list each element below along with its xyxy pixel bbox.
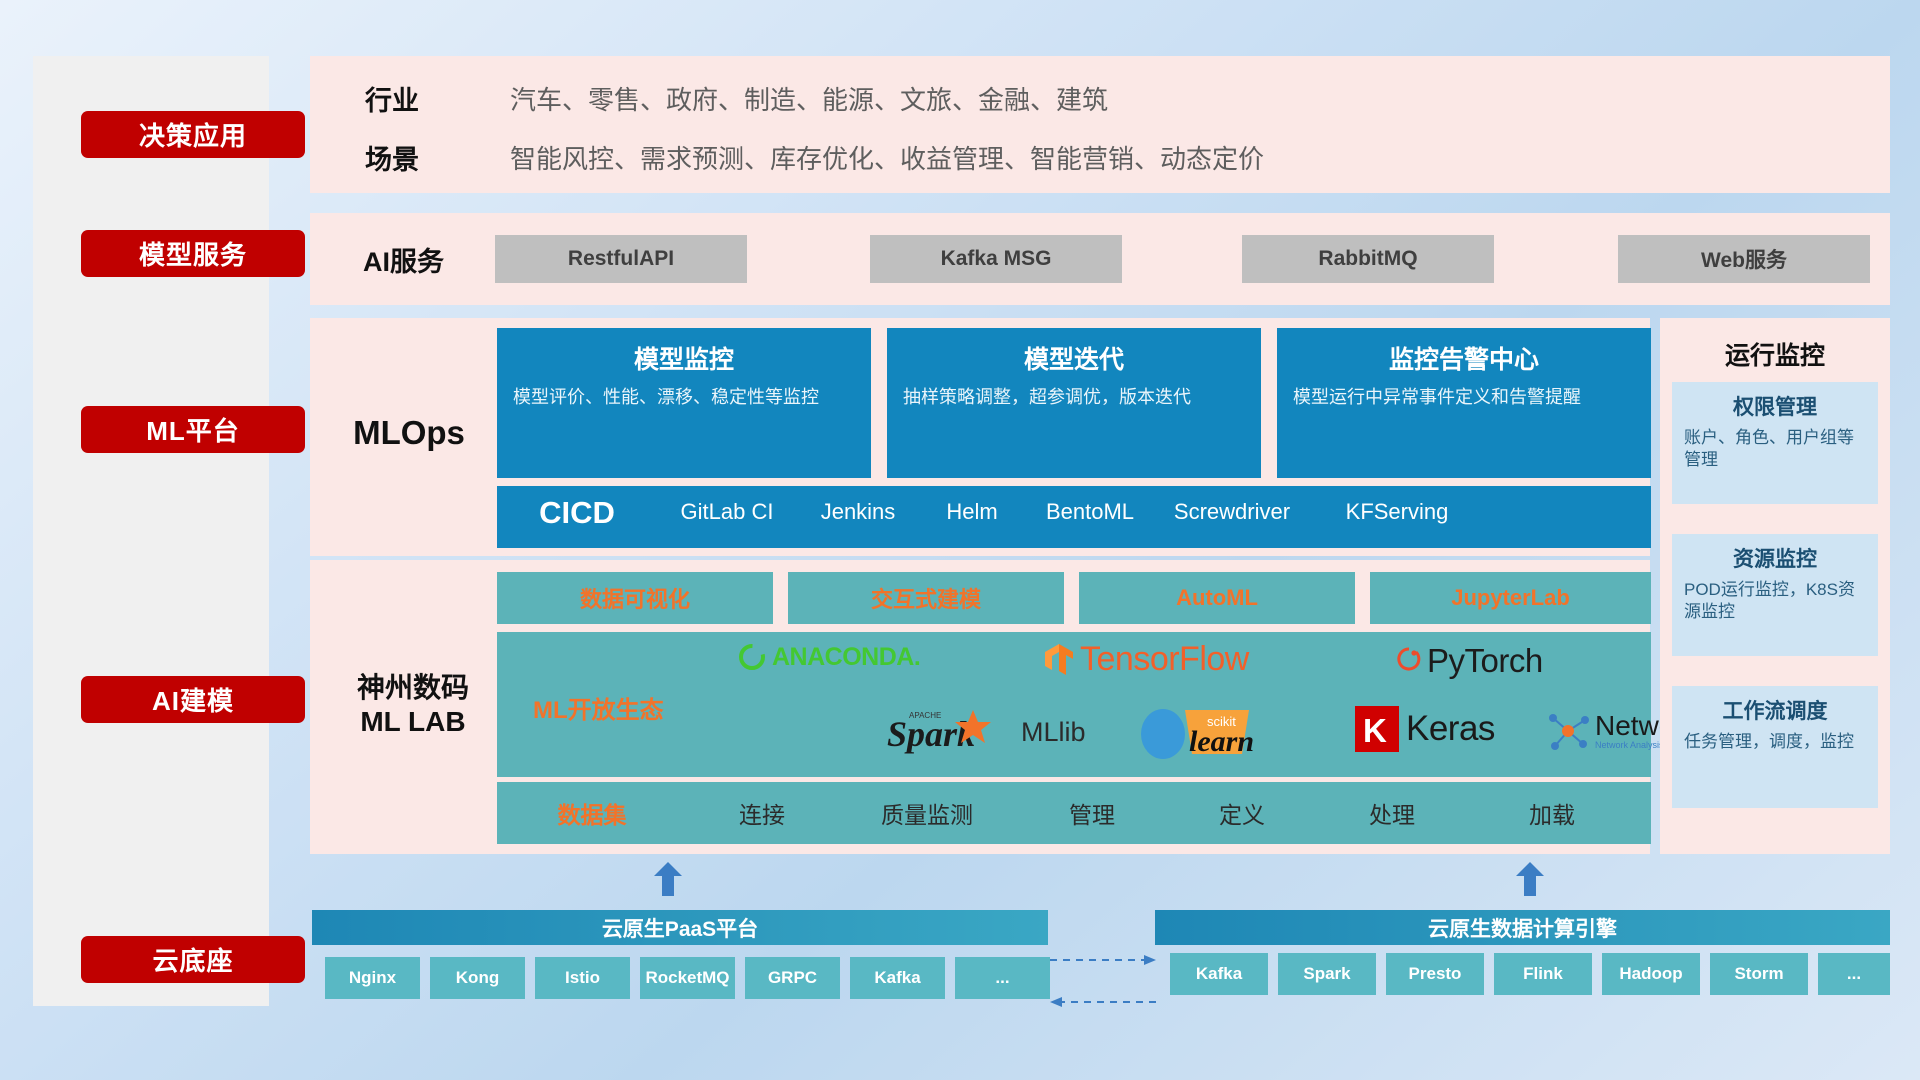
tool-chip-jupyterlab[interactable]: JupyterLab [1370, 572, 1651, 624]
cloud-chip-more-right[interactable]: ... [1818, 953, 1890, 995]
monitoring-card-permission[interactable]: 权限管理 账户、角色、用户组等管理 [1672, 382, 1878, 504]
card-desc: 模型评价、性能、漂移、稳定性等监控 [513, 385, 855, 409]
tool-chip-data-visualization[interactable]: 数据可视化 [497, 572, 773, 624]
sidebar-item-decision-app[interactable]: 决策应用 [81, 111, 305, 158]
service-chip-kafka-msg[interactable]: Kafka MSG [870, 235, 1122, 283]
industry-label: 行业 [365, 79, 419, 118]
card-desc: 模型运行中异常事件定义和告警提醒 [1293, 385, 1635, 409]
dataset-item-connect[interactable]: 连接 [687, 782, 837, 844]
keras-logo: K Keras [1355, 706, 1495, 752]
scikit-learn-logo: scikit learn [1137, 704, 1287, 760]
scenario-value: 智能风控、需求预测、库存优化、收益管理、智能营销、动态定价 [510, 139, 1264, 176]
card-title: 权限管理 [1684, 391, 1866, 421]
ecosystem-label: ML开放生态 [533, 690, 664, 725]
cloud-chip-spark[interactable]: Spark [1278, 953, 1376, 995]
modeling-label-text: 神州数码 ML LAB [357, 671, 469, 739]
cicd-item-jenkins[interactable]: Jenkins [809, 500, 907, 524]
sidebar-item-cloud-base[interactable]: 云底座 [81, 936, 305, 983]
spark-mllib-logo: Spark APACHE MLlib [887, 706, 1086, 758]
dataset-item-process[interactable]: 处理 [1317, 782, 1467, 844]
arrow-up-icon-right [1513, 862, 1547, 896]
card-title: 模型迭代 [903, 340, 1245, 376]
tool-chip-interactive-modeling[interactable]: 交互式建模 [788, 572, 1064, 624]
monitoring-title: 运行监控 [1660, 336, 1890, 372]
cloud-bar-data-engine: 云原生数据计算引擎 [1155, 910, 1890, 945]
service-chip-rabbitmq[interactable]: RabbitMQ [1242, 235, 1494, 283]
dataset-item-load[interactable]: 加载 [1472, 782, 1632, 844]
modeling-label: 神州数码 ML LAB [324, 665, 502, 745]
svg-text:learn: learn [1189, 725, 1254, 758]
sidebar-item-model-service[interactable]: 模型服务 [81, 230, 305, 277]
cicd-item-gitlab-ci[interactable]: GitLab CI [647, 500, 807, 524]
dataset-item-quality-monitor[interactable]: 质量监测 [837, 782, 1017, 844]
bidirectional-connector [1048, 946, 1158, 1016]
cicd-head: CICD [497, 496, 657, 529]
cloud-chip-flink[interactable]: Flink [1494, 953, 1592, 995]
mlops-card-model-monitoring[interactable]: 模型监控 模型评价、性能、漂移、稳定性等监控 [497, 328, 871, 478]
service-chip-web-service[interactable]: Web服务 [1618, 235, 1870, 283]
anaconda-logo: ANACONDA. [737, 642, 920, 672]
mlops-card-model-iteration[interactable]: 模型迭代 抽样策略调整，超参调优，版本迭代 [887, 328, 1261, 478]
card-title: 监控告警中心 [1293, 340, 1635, 376]
svg-text:Spark: Spark [887, 714, 975, 754]
card-title: 资源监控 [1684, 543, 1866, 573]
cloud-chip-istio[interactable]: Istio [535, 957, 630, 999]
scenario-label: 场景 [365, 138, 419, 177]
cloud-chip-nginx[interactable]: Nginx [325, 957, 420, 999]
cloud-bar-paas: 云原生PaaS平台 [312, 910, 1048, 945]
cicd-item-bentoml[interactable]: BentoML [1037, 500, 1143, 524]
monitoring-card-workflow[interactable]: 工作流调度 任务管理，调度，监控 [1672, 686, 1878, 808]
arrow-up-icon-left [651, 862, 685, 896]
service-chip-restful-api[interactable]: RestfulAPI [495, 235, 747, 283]
monitoring-panel: 运行监控 权限管理 账户、角色、用户组等管理 资源监控 POD运行监控，K8S资… [1660, 318, 1890, 854]
svg-text:APACHE: APACHE [909, 711, 941, 720]
cloud-chip-rocketmq[interactable]: RocketMQ [640, 957, 735, 999]
card-title: 模型监控 [513, 340, 855, 376]
mlops-card-alert-center[interactable]: 监控告警中心 模型运行中异常事件定义和告警提醒 [1277, 328, 1651, 478]
mlops-label: MLOps [324, 398, 494, 468]
card-title: 工作流调度 [1684, 695, 1866, 725]
cloud-chip-presto[interactable]: Presto [1386, 953, 1484, 995]
sidebar-item-ml-platform[interactable]: ML平台 [81, 406, 305, 453]
cloud-chip-kafka-right[interactable]: Kafka [1170, 953, 1268, 995]
tensorflow-logo: TensorFlow [1042, 640, 1249, 679]
ecosystem-block: ML开放生态 ANACONDA. TensorFlow Py [497, 632, 1651, 777]
application-layer-panel: 行业 汽车、零售、政府、制造、能源、文旅、金融、建筑 场景 智能风控、需求预测、… [310, 56, 1890, 193]
cicd-item-helm[interactable]: Helm [917, 500, 1027, 524]
cloud-chip-storm[interactable]: Storm [1710, 953, 1808, 995]
cloud-chip-kafka-left[interactable]: Kafka [850, 957, 945, 999]
card-desc: 任务管理，调度，监控 [1684, 731, 1866, 753]
monitoring-card-resource[interactable]: 资源监控 POD运行监控，K8S资源监控 [1672, 534, 1878, 656]
card-desc: 账户、角色、用户组等管理 [1684, 427, 1866, 472]
cloud-chip-more-left[interactable]: ... [955, 957, 1050, 999]
svg-text:K: K [1363, 712, 1387, 749]
industry-value: 汽车、零售、政府、制造、能源、文旅、金融、建筑 [510, 80, 1108, 117]
architecture-diagram: 决策应用 模型服务 ML平台 AI建模 云底座 行业 汽车、零售、政府、制造、能… [0, 0, 1920, 1080]
pytorch-logo: PyTorch [1395, 642, 1543, 680]
dataset-head: 数据集 [497, 782, 687, 844]
cloud-chip-kong[interactable]: Kong [430, 957, 525, 999]
cloud-chip-hadoop[interactable]: Hadoop [1602, 953, 1700, 995]
cloud-chip-grpc[interactable]: GRPC [745, 957, 840, 999]
sidebar: 决策应用 模型服务 ML平台 AI建模 云底座 [33, 56, 269, 1006]
card-desc: POD运行监控，K8S资源监控 [1684, 579, 1866, 624]
cicd-item-screwdriver[interactable]: Screwdriver [1162, 500, 1302, 524]
ai-service-label: AI服务 [363, 240, 444, 279]
card-desc: 抽样策略调整，超参调优，版本迭代 [903, 385, 1245, 409]
dataset-item-manage[interactable]: 管理 [1017, 782, 1167, 844]
cicd-item-kfserving[interactable]: KFServing [1332, 500, 1462, 524]
tool-chip-automl[interactable]: AutoML [1079, 572, 1355, 624]
dataset-row: 数据集 连接 质量监测 管理 定义 处理 加载 [497, 782, 1651, 844]
sidebar-item-ai-modeling[interactable]: AI建模 [81, 676, 305, 723]
modeling-panel: 神州数码 ML LAB 数据可视化 交互式建模 AutoML JupyterLa… [310, 560, 1650, 854]
cicd-bar: CICD GitLab CI Jenkins Helm BentoML Scre… [497, 486, 1651, 548]
dataset-item-define[interactable]: 定义 [1167, 782, 1317, 844]
service-layer-panel: AI服务 RestfulAPI Kafka MSG RabbitMQ Web服务 [310, 213, 1890, 305]
mlops-panel: MLOps 模型监控 模型评价、性能、漂移、稳定性等监控 模型迭代 抽样策略调整… [310, 318, 1650, 556]
